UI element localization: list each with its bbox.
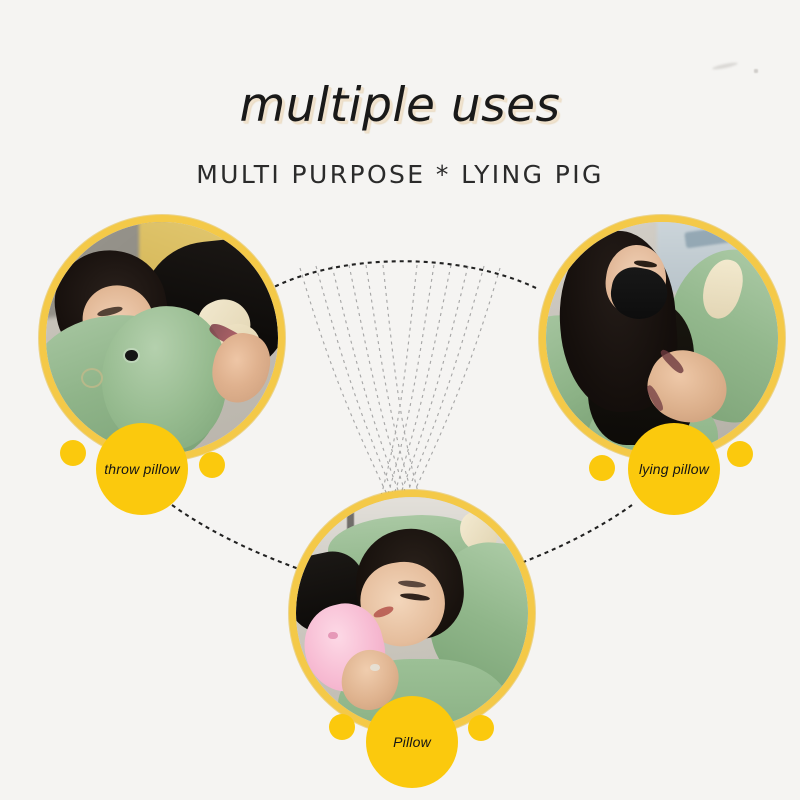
page-title: multiple uses <box>0 78 800 133</box>
accent-dot-left-1 <box>60 440 86 466</box>
scene-photo-pillow <box>296 497 528 729</box>
accent-dot-right-1 <box>199 452 225 478</box>
connector-top-arc <box>268 261 536 290</box>
accent-dot-right-3 <box>468 715 494 741</box>
scene-photo-lying-pillow <box>546 222 778 454</box>
label-lying-pillow[interactable]: lying pillow <box>628 423 720 515</box>
page-subtitle: MULTI PURPOSE * LYING PIG <box>0 160 800 189</box>
scan-artifact-dot <box>754 69 758 73</box>
label-throw-pillow[interactable]: throw pillow <box>96 423 188 515</box>
accent-dot-left-3 <box>329 714 355 740</box>
accent-dot-right-2 <box>727 441 753 467</box>
scan-artifact-smudge <box>712 61 738 70</box>
scene-photo-throw-pillow <box>46 222 278 454</box>
accent-dot-left-2 <box>589 455 615 481</box>
label-pillow[interactable]: Pillow <box>366 696 458 788</box>
product-infographic: multiple uses MULTI PURPOSE * LYING PIG <box>0 0 800 800</box>
